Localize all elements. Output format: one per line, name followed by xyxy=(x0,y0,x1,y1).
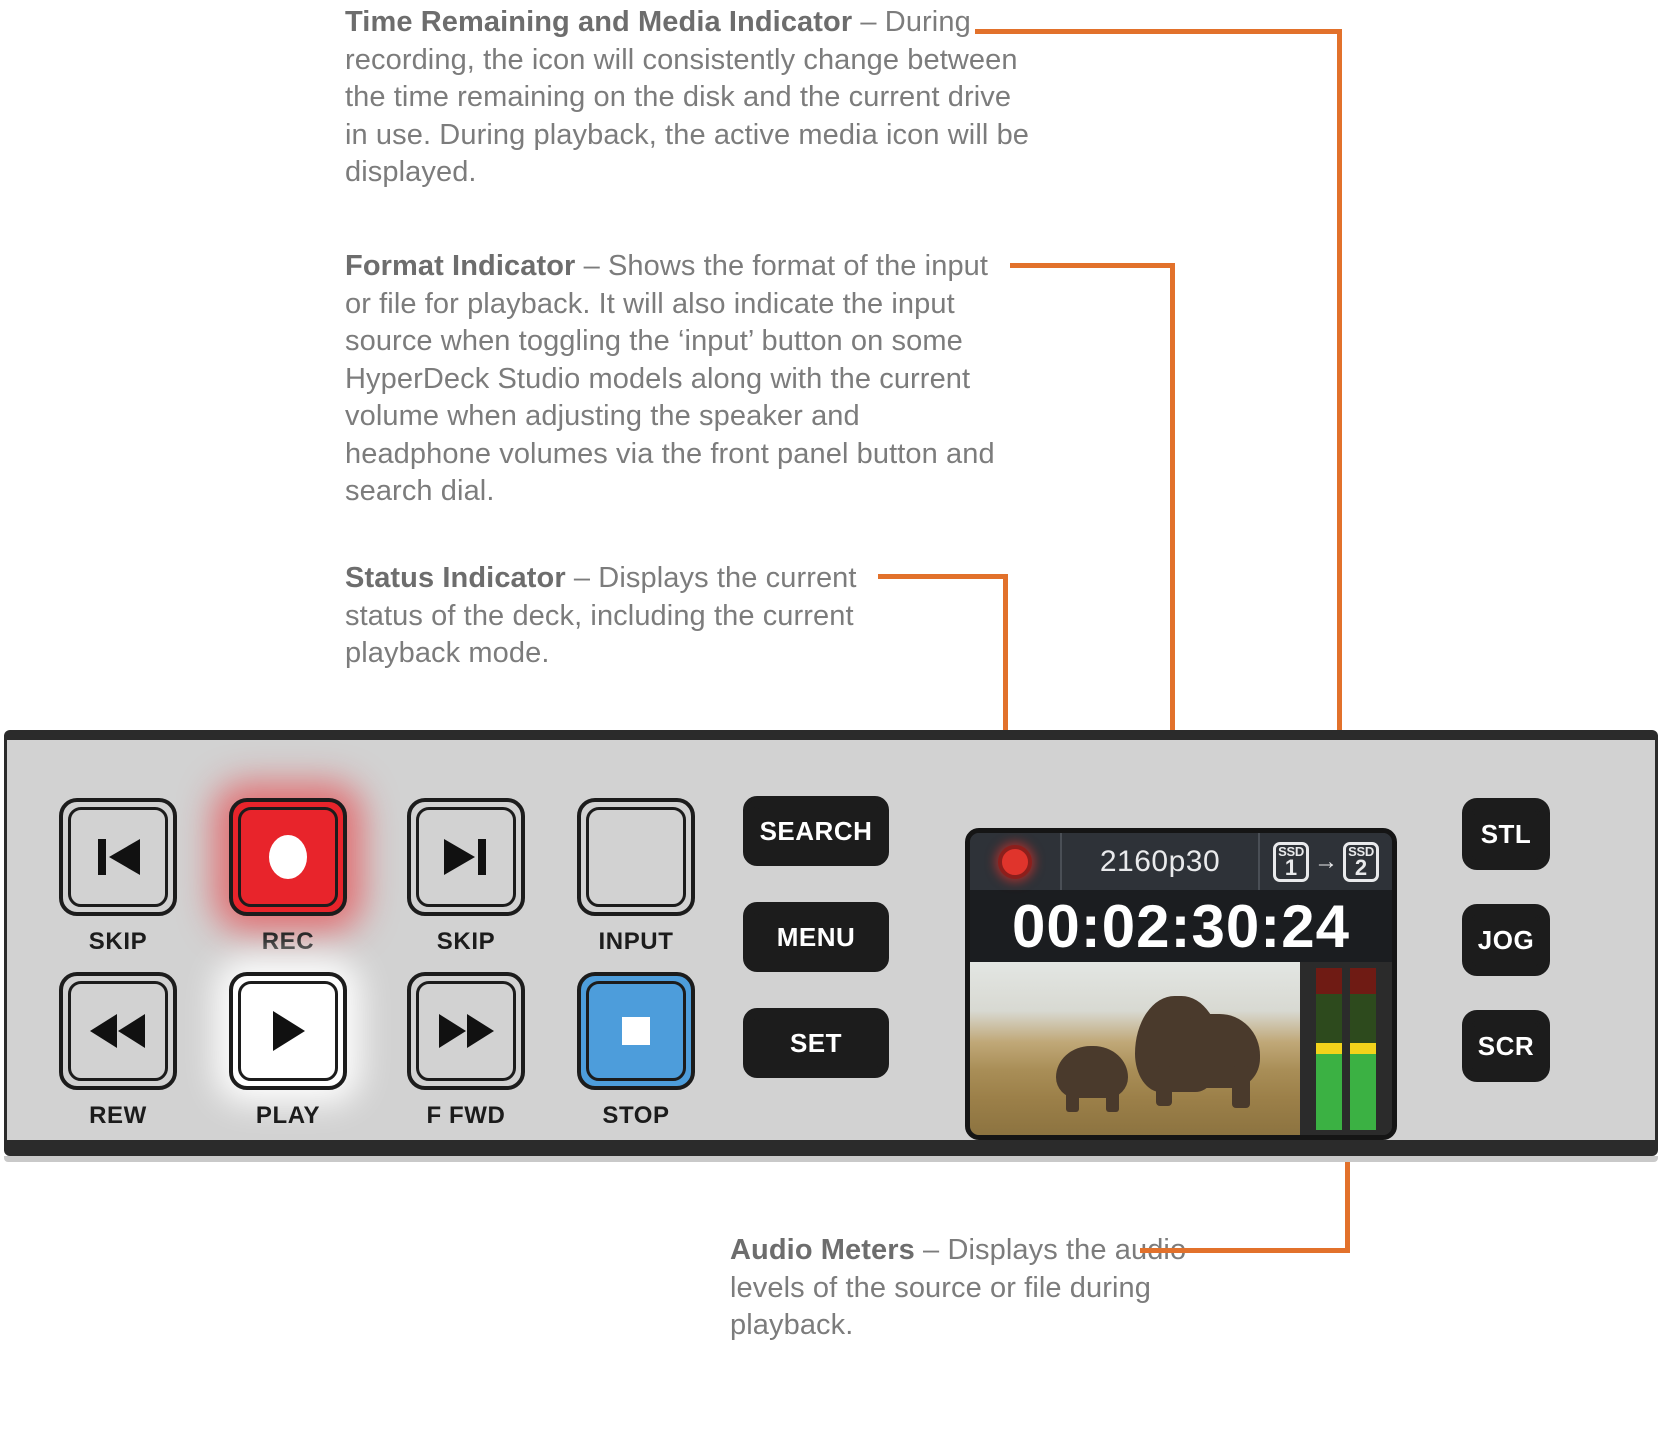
elephant-large-leg xyxy=(1156,1066,1172,1106)
callout-format-indicator-body: Shows the format of the input or file fo… xyxy=(345,250,995,507)
video-thumbnail xyxy=(970,962,1300,1136)
menu-button[interactable]: MENU xyxy=(743,902,889,972)
callout-dash: – xyxy=(852,6,885,38)
elephant-calf-leg-2 xyxy=(1106,1086,1119,1112)
meter-inactive-zone xyxy=(1350,994,1376,1043)
rec-button[interactable] xyxy=(229,798,347,916)
audio-meter-channel-2 xyxy=(1350,968,1376,1130)
input-label: INPUT xyxy=(556,928,716,956)
skip-back-label: SKIP xyxy=(38,928,198,956)
callout-time-remaining-title: Time Remaining and Media Indicator xyxy=(345,6,852,38)
rec-label: REC xyxy=(208,928,368,956)
rewind-button[interactable] xyxy=(59,972,177,1090)
scr-button[interactable]: SCR xyxy=(1462,1010,1550,1082)
rewind-label: REW xyxy=(38,1102,198,1130)
callout-format-indicator-title: Format Indicator xyxy=(345,250,575,282)
callout-format-indicator: Format Indicator – Shows the format of t… xyxy=(345,248,1005,511)
callout-dash: – xyxy=(566,562,599,594)
leader-line-format-vertical xyxy=(1170,263,1175,757)
input-button[interactable] xyxy=(577,798,695,916)
meter-red-zone xyxy=(1350,968,1376,994)
timecode-value: 00:02:30:24 xyxy=(1012,892,1350,961)
lcd-header-row: 2160p30 SSD 1 → SSD 2 xyxy=(970,833,1392,890)
skip-next-icon xyxy=(439,834,493,880)
fast-forward-button[interactable] xyxy=(407,972,525,1090)
play-label: PLAY xyxy=(208,1102,368,1130)
skip-back-button[interactable] xyxy=(59,798,177,916)
callout-time-remaining: Time Remaining and Media Indicator – Dur… xyxy=(345,4,1035,192)
status-indicator xyxy=(970,833,1062,890)
chassis-shadow xyxy=(4,1156,1658,1162)
skip-previous-icon xyxy=(91,834,145,880)
leader-line-time-vertical xyxy=(1337,29,1342,757)
audio-meter-channel-1 xyxy=(1316,968,1342,1130)
skip-forward-button[interactable] xyxy=(407,798,525,916)
audio-meters xyxy=(1300,962,1392,1136)
leader-line-audio-horizontal xyxy=(1140,1248,1350,1253)
video-and-meters-row xyxy=(970,962,1392,1136)
meter-level-fill xyxy=(1350,1054,1376,1130)
format-value: 2160p30 xyxy=(1100,845,1220,879)
callout-audio-meters: Audio Meters – Displays the audio levels… xyxy=(730,1232,1190,1345)
play-icon xyxy=(267,1008,309,1054)
stop-button[interactable] xyxy=(577,972,695,1090)
stl-label: STL xyxy=(1481,819,1532,850)
skip-forward-label: SKIP xyxy=(386,928,546,956)
set-label: SET xyxy=(790,1028,842,1059)
hyperdeck-front-panel: SKIP REC SKIP INPUT xyxy=(4,730,1658,1170)
meter-yellow-peak xyxy=(1316,1043,1342,1054)
stl-button[interactable]: STL xyxy=(1462,798,1550,870)
callout-status-indicator-title: Status Indicator xyxy=(345,562,566,594)
ssd-2-badge: SSD 2 xyxy=(1343,842,1379,882)
chassis-bottom-edge xyxy=(4,1140,1658,1156)
scr-label: SCR xyxy=(1478,1031,1534,1062)
callout-dash: – xyxy=(575,250,608,282)
search-label: SEARCH xyxy=(760,816,873,847)
set-button[interactable]: SET xyxy=(743,1008,889,1078)
meter-inactive-zone xyxy=(1316,994,1342,1043)
elephant-large-leg-2 xyxy=(1232,1066,1250,1108)
meter-yellow-peak xyxy=(1350,1043,1376,1054)
callout-status-indicator: Status Indicator – Displays the current … xyxy=(345,560,905,673)
menu-label: MENU xyxy=(777,922,856,953)
rewind-icon xyxy=(88,1011,148,1051)
record-dot-icon xyxy=(263,832,313,882)
leader-line-format-horizontal xyxy=(1010,263,1175,268)
record-status-icon xyxy=(998,845,1032,879)
search-button[interactable]: SEARCH xyxy=(743,796,889,866)
media-indicator: SSD 1 → SSD 2 xyxy=(1260,833,1392,890)
ssd-1-number: 1 xyxy=(1285,857,1297,879)
stop-label: STOP xyxy=(556,1102,716,1130)
jog-label: JOG xyxy=(1478,925,1534,956)
ssd-2-number: 2 xyxy=(1355,857,1367,879)
lcd-display[interactable]: 2160p30 SSD 1 → SSD 2 00:02:30:24 xyxy=(965,828,1397,1140)
leader-line-status-horizontal xyxy=(878,574,1008,579)
ssd-1-badge: SSD 1 xyxy=(1273,842,1309,882)
jog-button[interactable]: JOG xyxy=(1462,904,1550,976)
arrow-right-icon: → xyxy=(1314,848,1338,876)
timecode-row: 00:02:30:24 xyxy=(970,890,1392,962)
elephant-calf-leg xyxy=(1066,1086,1079,1112)
fast-forward-label: F FWD xyxy=(386,1102,546,1130)
stop-square-icon xyxy=(616,1011,656,1051)
format-indicator: 2160p30 xyxy=(1062,833,1260,890)
callout-dash: – xyxy=(915,1234,948,1266)
play-button[interactable] xyxy=(229,972,347,1090)
chassis-face: SKIP REC SKIP INPUT xyxy=(4,740,1658,1146)
fast-forward-icon xyxy=(436,1011,496,1051)
leader-line-time-horizontal xyxy=(975,29,1340,34)
meter-level-fill xyxy=(1316,1054,1342,1130)
callout-audio-meters-title: Audio Meters xyxy=(730,1234,915,1266)
meter-red-zone xyxy=(1316,968,1342,994)
